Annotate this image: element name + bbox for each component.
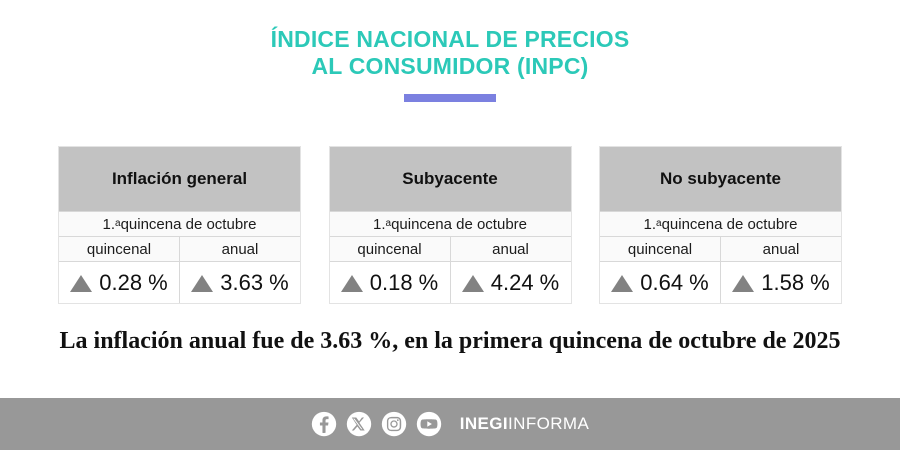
value-cell-anual: 1.58 %: [720, 262, 841, 303]
card-column-headers: quincenal anual: [59, 237, 300, 262]
value-cell-quincenal: 0.18 %: [330, 262, 450, 303]
summary-statement: La inflación anual fue de 3.63 %, en la …: [0, 328, 900, 355]
card-period-prefix: 1.: [643, 216, 656, 233]
value-anual: 4.24 %: [491, 270, 560, 296]
card-period: 1.a quincena de octubre: [330, 211, 571, 237]
value-cell-quincenal: 0.28 %: [59, 262, 179, 303]
card-title: Inflación general: [112, 169, 247, 189]
value-cell-quincenal: 0.64 %: [600, 262, 720, 303]
facebook-icon[interactable]: [311, 411, 337, 437]
card-period-suffix: quincena de octubre: [121, 216, 257, 233]
card-header: Subyacente: [330, 147, 571, 211]
column-header-anual: anual: [720, 237, 841, 261]
column-header-quincenal: quincenal: [59, 237, 179, 261]
value-quincenal: 0.18 %: [370, 270, 439, 296]
column-header-quincenal: quincenal: [600, 237, 720, 261]
triangle-up-icon: [341, 275, 363, 292]
value-cell-anual: 3.63 %: [179, 262, 300, 303]
card-period-suffix: quincena de octubre: [391, 216, 527, 233]
card-period-prefix: 1.: [102, 216, 115, 233]
footer-bar: INEGIINFORMA: [0, 398, 900, 450]
card-title: No subyacente: [660, 169, 781, 189]
card-title: Subyacente: [402, 169, 497, 189]
column-header-quincenal: quincenal: [330, 237, 450, 261]
value-quincenal: 0.64 %: [640, 270, 709, 296]
page-title-line-1: ÍNDICE NACIONAL DE PRECIOS: [0, 26, 900, 53]
card-period: 1.a quincena de octubre: [59, 211, 300, 237]
triangle-up-icon: [191, 275, 213, 292]
card-header: Inflación general: [59, 147, 300, 211]
card-inflacion-general: Inflación general 1.a quincena de octubr…: [58, 146, 301, 304]
x-twitter-icon[interactable]: [346, 411, 372, 437]
card-header: No subyacente: [600, 147, 841, 211]
triangle-up-icon: [462, 275, 484, 292]
title-block: ÍNDICE NACIONAL DE PRECIOS AL CONSUMIDOR…: [0, 26, 900, 102]
card-column-headers: quincenal anual: [330, 237, 571, 262]
page-title-line-2: AL CONSUMIDOR (INPC): [0, 53, 900, 80]
triangle-up-icon: [732, 275, 754, 292]
indicator-cards: Inflación general 1.a quincena de octubr…: [58, 146, 842, 304]
triangle-up-icon: [611, 275, 633, 292]
card-subyacente: Subyacente 1.a quincena de octubre quinc…: [329, 146, 572, 304]
triangle-up-icon: [70, 275, 92, 292]
value-anual: 3.63 %: [220, 270, 289, 296]
value-anual: 1.58 %: [761, 270, 830, 296]
card-values: 0.28 % 3.63 %: [59, 262, 300, 303]
youtube-icon[interactable]: [416, 411, 442, 437]
brand-inegi: INEGI: [460, 414, 508, 433]
card-column-headers: quincenal anual: [600, 237, 841, 262]
column-header-anual: anual: [450, 237, 571, 261]
card-period: 1.a quincena de octubre: [600, 211, 841, 237]
instagram-icon[interactable]: [381, 411, 407, 437]
value-quincenal: 0.28 %: [99, 270, 168, 296]
card-values: 0.64 % 1.58 %: [600, 262, 841, 303]
value-cell-anual: 4.24 %: [450, 262, 571, 303]
card-no-subyacente: No subyacente 1.a quincena de octubre qu…: [599, 146, 842, 304]
card-values: 0.18 % 4.24 %: [330, 262, 571, 303]
title-underline-rule: [404, 94, 496, 102]
card-period-prefix: 1.: [373, 216, 386, 233]
brand-wordmark: INEGIINFORMA: [460, 414, 589, 434]
brand-informa: INFORMA: [508, 414, 589, 433]
column-header-anual: anual: [179, 237, 300, 261]
card-period-suffix: quincena de octubre: [662, 216, 798, 233]
